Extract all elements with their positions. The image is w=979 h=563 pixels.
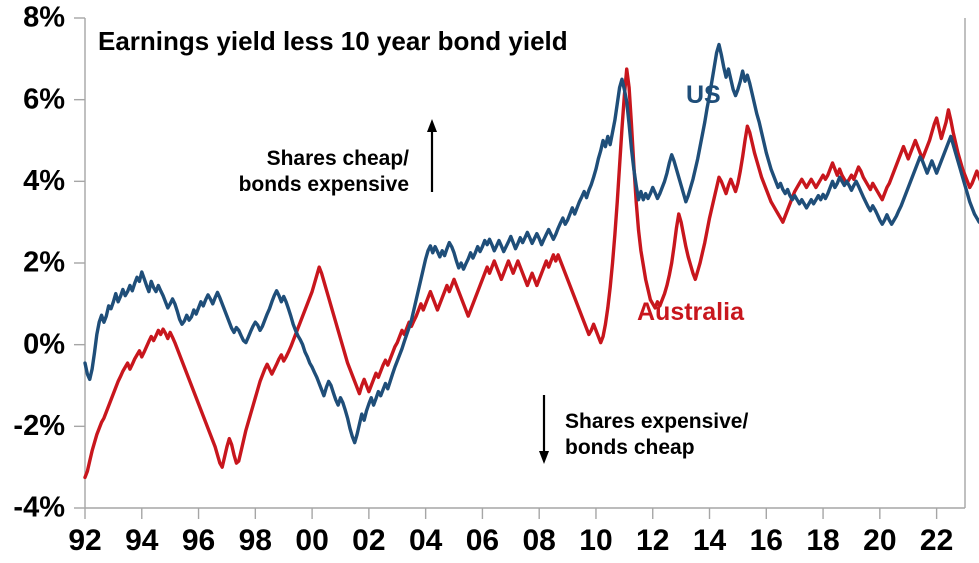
- x-tick-label: 14: [693, 524, 727, 557]
- x-tick-label: 00: [295, 524, 328, 557]
- y-tick-label: -4%: [13, 492, 65, 524]
- x-tick-label: 08: [523, 524, 556, 557]
- y-axis-tick-labels: 8%6%4%2%0%-2%-4%: [13, 2, 65, 524]
- up-annotation-line1: Shares cheap/: [267, 147, 410, 170]
- x-axis-tick-marks: [85, 508, 937, 519]
- y-axis-tick-marks: [74, 18, 85, 508]
- x-tick-label: 22: [920, 524, 953, 557]
- x-tick-label: 98: [239, 524, 272, 557]
- y-tick-label: 4%: [23, 165, 65, 197]
- x-tick-label: 02: [352, 524, 385, 557]
- x-tick-label: 10: [579, 524, 612, 557]
- down-annotation-line2: bonds cheap: [565, 436, 695, 459]
- earnings-yield-line-chart: 8%6%4%2%0%-2%-4% 92949698000204060810121…: [0, 0, 979, 563]
- x-axis-tick-labels: 92949698000204060810121416182022: [68, 524, 953, 557]
- down-annotation-line1: Shares expensive/: [565, 410, 748, 433]
- y-tick-label: 8%: [23, 2, 65, 34]
- x-tick-label: 04: [409, 524, 443, 557]
- y-tick-label: 0%: [23, 328, 65, 360]
- x-tick-label: 12: [636, 524, 669, 557]
- us-series-label: US: [686, 81, 721, 109]
- chart-title: Earnings yield less 10 year bond yield: [98, 26, 568, 56]
- x-tick-label: 92: [68, 524, 101, 557]
- chart-container: 8%6%4%2%0%-2%-4% 92949698000204060810121…: [0, 0, 979, 563]
- x-tick-label: 16: [750, 524, 783, 557]
- y-tick-label: 2%: [23, 247, 65, 279]
- x-tick-label: 18: [806, 524, 839, 557]
- x-tick-label: 94: [125, 524, 159, 557]
- y-tick-label: 6%: [23, 83, 65, 115]
- x-tick-label: 96: [182, 524, 215, 557]
- plot-background: [85, 18, 965, 508]
- australia-series-label: Australia: [637, 298, 745, 326]
- up-annotation-line2: bonds expensive: [239, 173, 409, 196]
- x-tick-label: 06: [466, 524, 499, 557]
- x-tick-label: 20: [863, 524, 896, 557]
- y-tick-label: -2%: [13, 410, 65, 442]
